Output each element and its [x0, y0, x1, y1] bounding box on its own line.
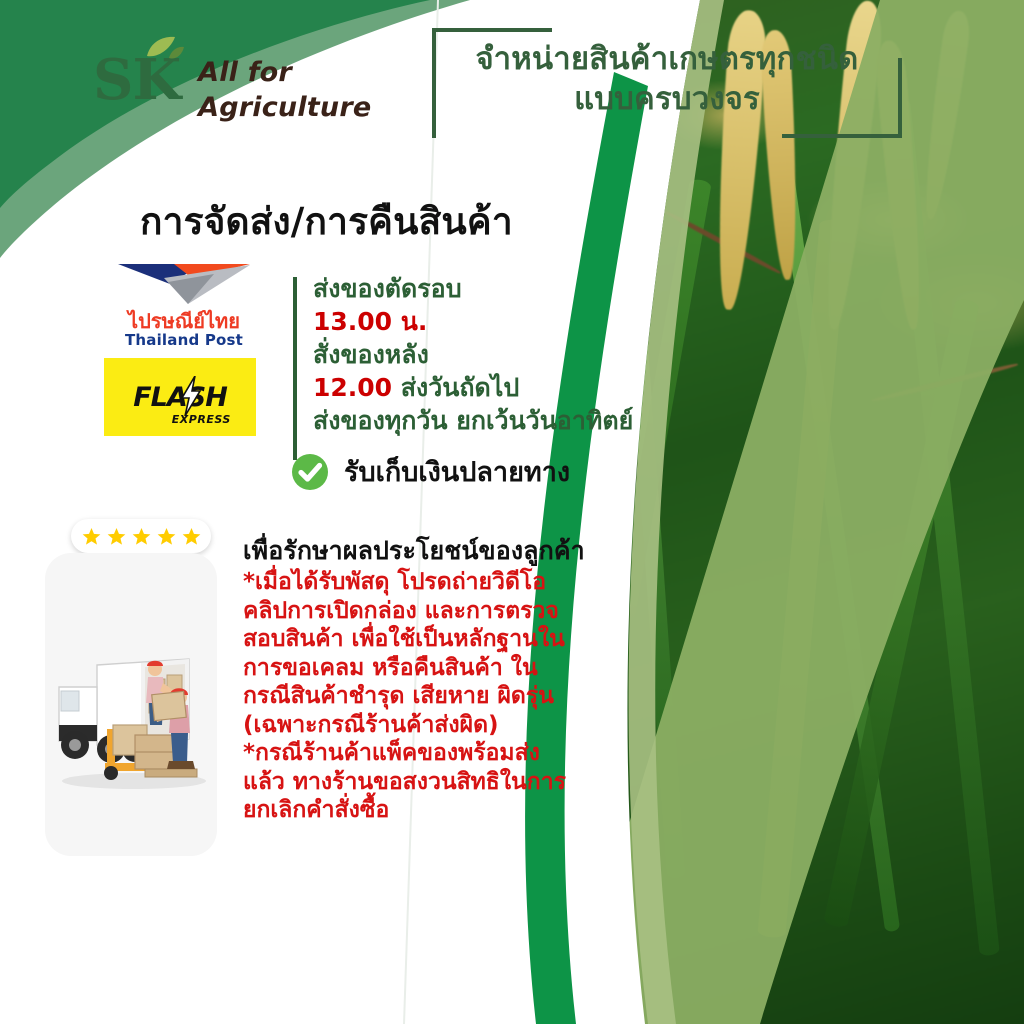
- brand-tagline-line1: All for: [198, 56, 371, 91]
- brand-tagline-line2: Agriculture: [198, 91, 371, 126]
- shipping-next-day-text: ส่งวันถัดไป: [401, 373, 519, 402]
- thailand-post-mark-icon: [114, 258, 254, 308]
- bracket-left-top: [432, 28, 552, 32]
- header-badge-line2: แบบครบวงจร: [454, 80, 880, 120]
- star-icon: [157, 527, 176, 546]
- thailand-post-name-en: Thailand Post: [104, 332, 264, 349]
- notice-paragraph-2: *กรณีร้านค้าแพ็คของพร้อมส่งแล้ว ทางร้านข…: [243, 739, 578, 825]
- flash-express-sub: EXPRESS: [172, 413, 231, 426]
- vertical-divider: [293, 277, 297, 460]
- shipping-cutoff-unit: น.: [401, 307, 428, 336]
- header-badge-text: จำหน่ายสินค้าเกษตรทุกชนิด แบบครบวงจร: [454, 40, 880, 119]
- shipping-line-3: สั่งของหลัง: [313, 338, 713, 371]
- shipping-line-1: ส่งของตัดรอบ: [313, 272, 713, 305]
- shipping-schedule: ส่งของตัดรอบ 13.00 น. สั่งของหลัง 12.00 …: [313, 272, 713, 437]
- header-badge-line1: จำหน่ายสินค้าเกษตรทุกชนิด: [476, 41, 859, 77]
- bracket-right: [898, 58, 902, 138]
- flash-express-name: FLASH EXPRESS: [133, 382, 227, 413]
- shipping-line-4: 12.00 ส่งวันถัดไป: [313, 371, 713, 404]
- shipping-cutoff-time: 13.00: [313, 307, 392, 336]
- notice-body: *เมื่อได้รับพัสดุ โปรดถ่ายวิดีโอคลิปการเ…: [243, 568, 578, 825]
- notice-title: เพื่อรักษาผลประโยชน์ของลูกค้า: [243, 531, 585, 571]
- carrier-logos: ไปรษณีย์ไทย Thailand Post FLASH EXPRESS: [104, 258, 269, 436]
- cod-label: รับเก็บเงินปลายทาง: [344, 450, 570, 493]
- poster-canvas: SK All for Agriculture จำหน่ายสินค้าเกษต…: [0, 0, 1024, 1024]
- bracket-left: [432, 28, 436, 138]
- delivery-truck-illustration: [45, 553, 217, 856]
- header-badge: จำหน่ายสินค้าเกษตรทุกชนิด แบบครบวงจร: [432, 28, 902, 138]
- brand-logo: SK All for Agriculture: [93, 52, 371, 125]
- background-decorations: [0, 0, 1024, 1024]
- star-icon: [132, 527, 151, 546]
- brand-tagline: All for Agriculture: [198, 56, 371, 125]
- shipping-line-2: 13.00 น.: [313, 305, 713, 338]
- check-circle-icon: [290, 452, 330, 492]
- leaf-icon: [145, 36, 185, 62]
- star-icon: [107, 527, 126, 546]
- lightning-bolt-icon: [180, 376, 202, 416]
- rice-field-photo: [570, 0, 1024, 1024]
- rating-stars: [71, 519, 211, 553]
- star-icon: [82, 527, 101, 546]
- bracket-right-bottom: [782, 134, 902, 138]
- page-title: การจัดส่ง/การคืนสินค้า: [140, 192, 513, 251]
- shipping-next-day-time: 12.00: [313, 373, 392, 402]
- notice-paragraph-1: *เมื่อได้รับพัสดุ โปรดถ่ายวิดีโอคลิปการเ…: [243, 568, 578, 739]
- thailand-post-name-th: ไปรษณีย์ไทย: [104, 310, 264, 332]
- flash-express-logo: FLASH EXPRESS: [104, 358, 256, 436]
- star-icon: [182, 527, 201, 546]
- cod-row: รับเก็บเงินปลายทาง: [290, 450, 570, 493]
- decorative-shapes-svg: [0, 0, 1024, 1024]
- thailand-post-logo: ไปรษณีย์ไทย Thailand Post: [104, 258, 264, 349]
- shipping-line-5: ส่งของทุกวัน ยกเว้นวันอาทิตย์: [313, 404, 713, 437]
